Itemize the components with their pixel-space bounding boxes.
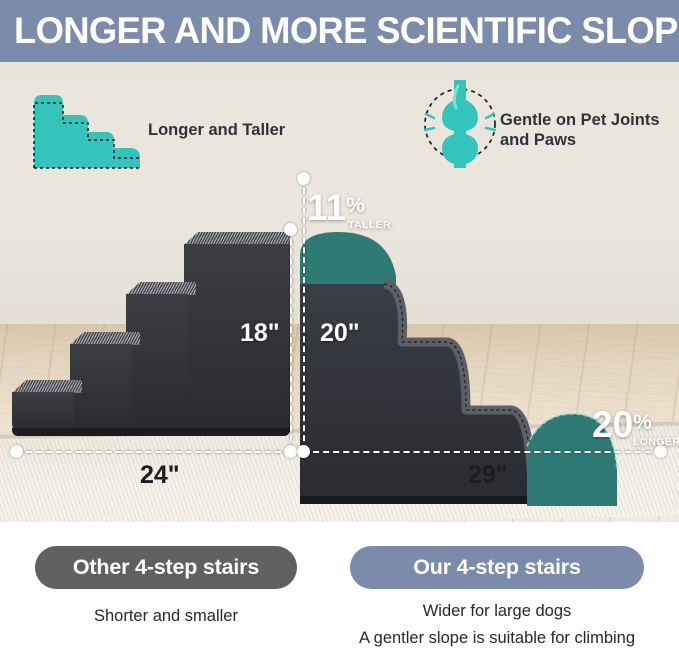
- feature-label-1: Longer and Taller: [148, 120, 285, 140]
- longer-badge: 20% LONGER: [592, 406, 679, 448]
- width-dot-other-right: [284, 445, 297, 458]
- infographic-page: LONGER AND MORE SCIENTIFIC SLOPE Longer …: [0, 0, 679, 657]
- pill-other-label: Other 4-step stairs: [73, 555, 259, 580]
- width-label-our: 29": [468, 462, 508, 488]
- stairs-steps-icon: [22, 85, 152, 170]
- height-label-our: 20": [320, 320, 360, 346]
- width-dot-other-left: [10, 445, 23, 458]
- width-label-other: 24": [140, 462, 180, 488]
- taller-badge-value: 11: [307, 187, 346, 228]
- product-comparison-photo: Longer and Taller Gentle on Pet Joints a…: [0, 62, 679, 522]
- taller-badge: 11% TALLER: [307, 189, 391, 231]
- bone-joint-icon: [416, 78, 504, 170]
- height-label-other: 18": [240, 320, 280, 346]
- riser-1: [12, 392, 74, 432]
- pill-our-label: Our 4-step stairs: [413, 555, 580, 580]
- taller-badge-unit: %: [346, 194, 365, 217]
- height-dot-our-top: [297, 172, 310, 185]
- caption-other-1: Shorter and smaller: [35, 603, 297, 630]
- height-line-other: [290, 229, 292, 451]
- pill-our-stairs: Our 4-step stairs: [350, 546, 644, 589]
- product-our-stairs: [303, 234, 603, 511]
- feature-label-2: Gentle on Pet Joints and Paws: [500, 110, 675, 150]
- riser-3: [126, 294, 188, 432]
- height-line-our: [303, 178, 305, 451]
- base-shadow: [12, 428, 290, 436]
- width-dot-our-left: [297, 445, 310, 458]
- longer-badge-word: LONGER: [633, 437, 679, 448]
- taller-badge-word: TALLER: [348, 220, 391, 231]
- pill-other-stairs: Other 4-step stairs: [35, 546, 297, 589]
- longer-badge-unit: %: [633, 411, 652, 434]
- header-banner: LONGER AND MORE SCIENTIFIC SLOPE: [0, 0, 679, 62]
- width-line-our: [303, 451, 661, 453]
- width-line-other: [16, 451, 291, 453]
- caption-our-1: Wider for large dogs: [345, 598, 649, 625]
- height-dot-other-top: [284, 223, 297, 236]
- page-title: LONGER AND MORE SCIENTIFIC SLOPE: [14, 9, 659, 53]
- longer-badge-value: 20: [592, 404, 633, 445]
- caption-our-2: A gentler slope is suitable for climbing: [327, 625, 667, 652]
